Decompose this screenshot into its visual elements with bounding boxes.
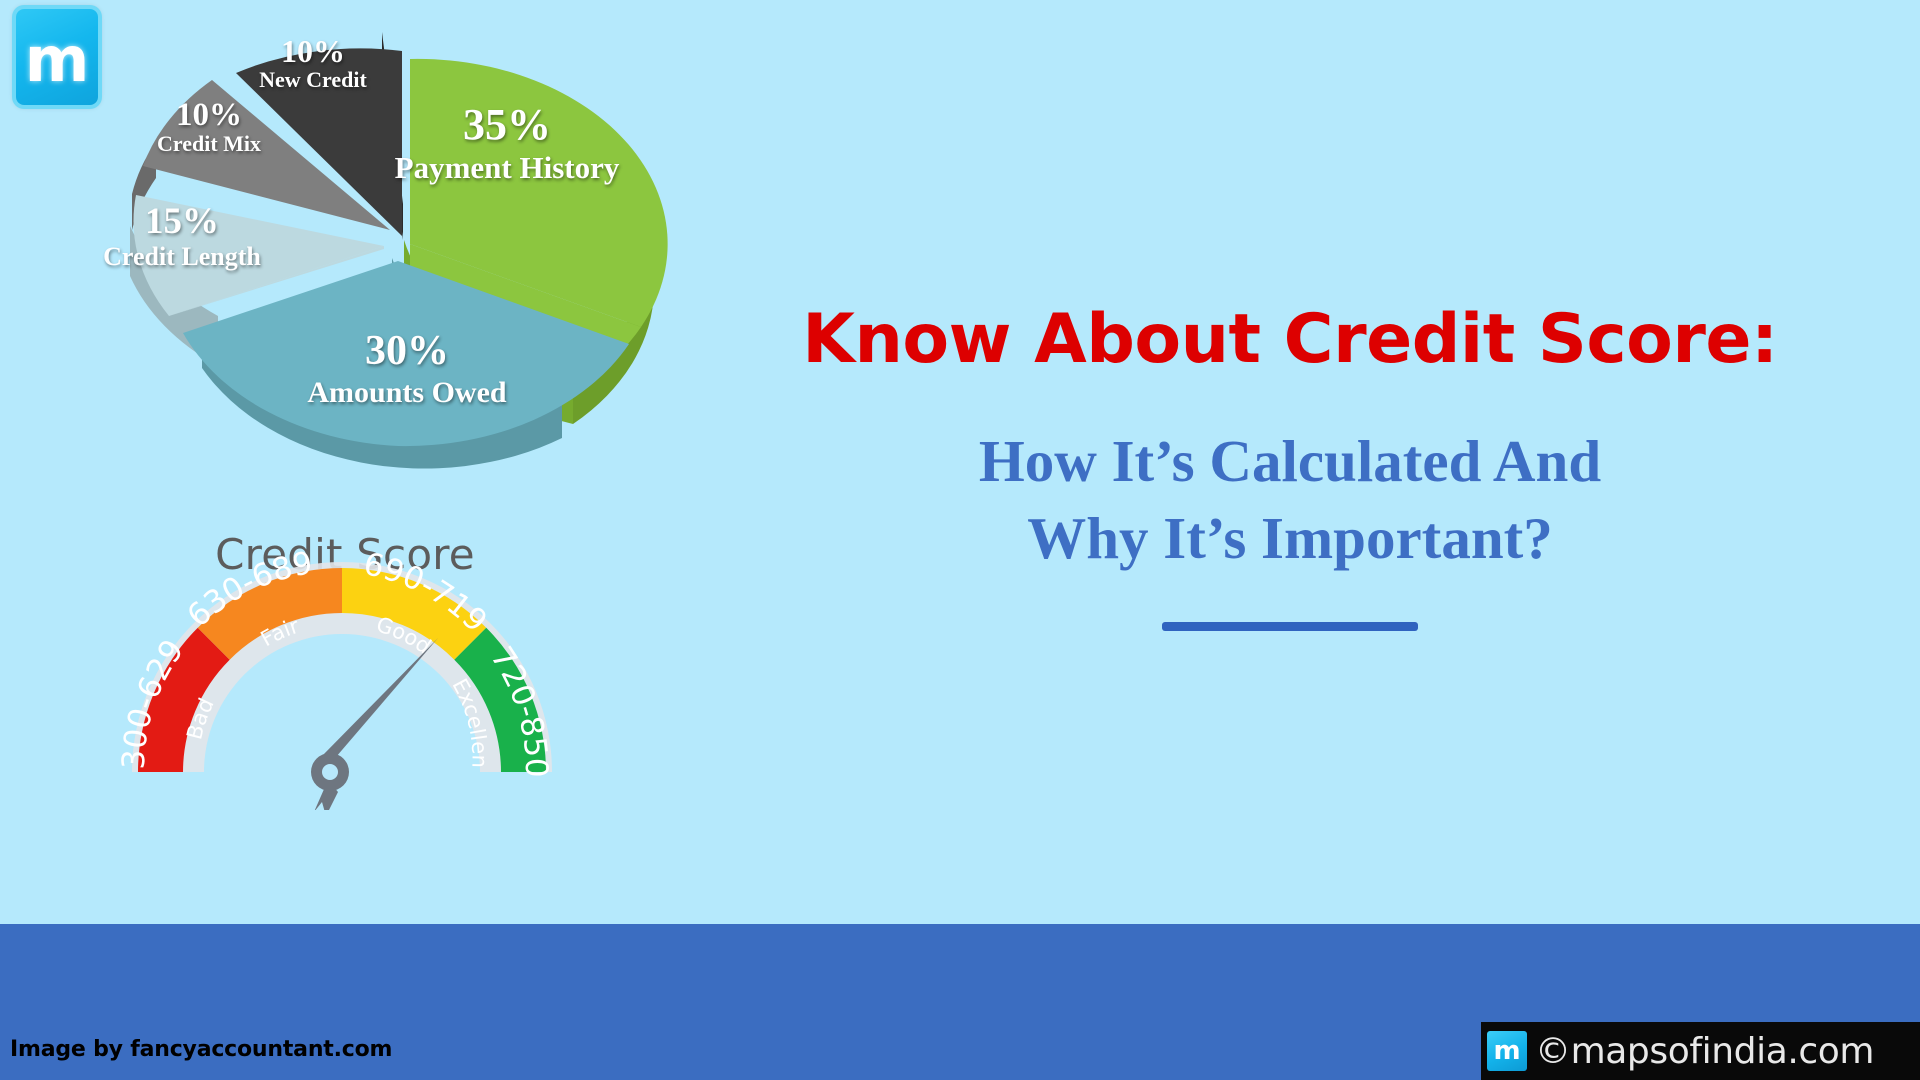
image-credit-text: Image by fancyaccountant.com [10,1037,392,1062]
title-divider [1162,622,1418,631]
gauge-needle [311,638,438,810]
watermark-text: ©mapsofindia.com [1535,1031,1874,1072]
subtitle-line-2: Why It’s Important? [760,500,1820,577]
gauge-svg: 300-629 Bad 630-689 Fair 690-719 Good 72… [82,480,602,810]
pie-chart-svg [92,18,712,488]
headline-block: Know About Credit Score: How It’s Calcul… [760,300,1820,631]
watermark-logo-icon: m [1487,1031,1527,1071]
watermark: m ©mapsofindia.com [1481,1022,1920,1080]
logo-letter: m [25,29,90,91]
infographic-canvas: m [0,0,1920,1080]
credit-score-pie-chart: 35% Payment History 30% Amounts Owed 15%… [92,18,712,488]
mapsofindia-logo-icon: m [16,9,98,105]
watermark-logo-letter: m [1493,1038,1520,1064]
page-subtitle: How It’s Calculated And Why It’s Importa… [760,423,1820,576]
subtitle-line-1: How It’s Calculated And [979,428,1601,494]
page-title: Know About Credit Score: [760,300,1820,379]
credit-score-gauge: 300-629 Bad 630-689 Fair 690-719 Good 72… [82,480,602,810]
